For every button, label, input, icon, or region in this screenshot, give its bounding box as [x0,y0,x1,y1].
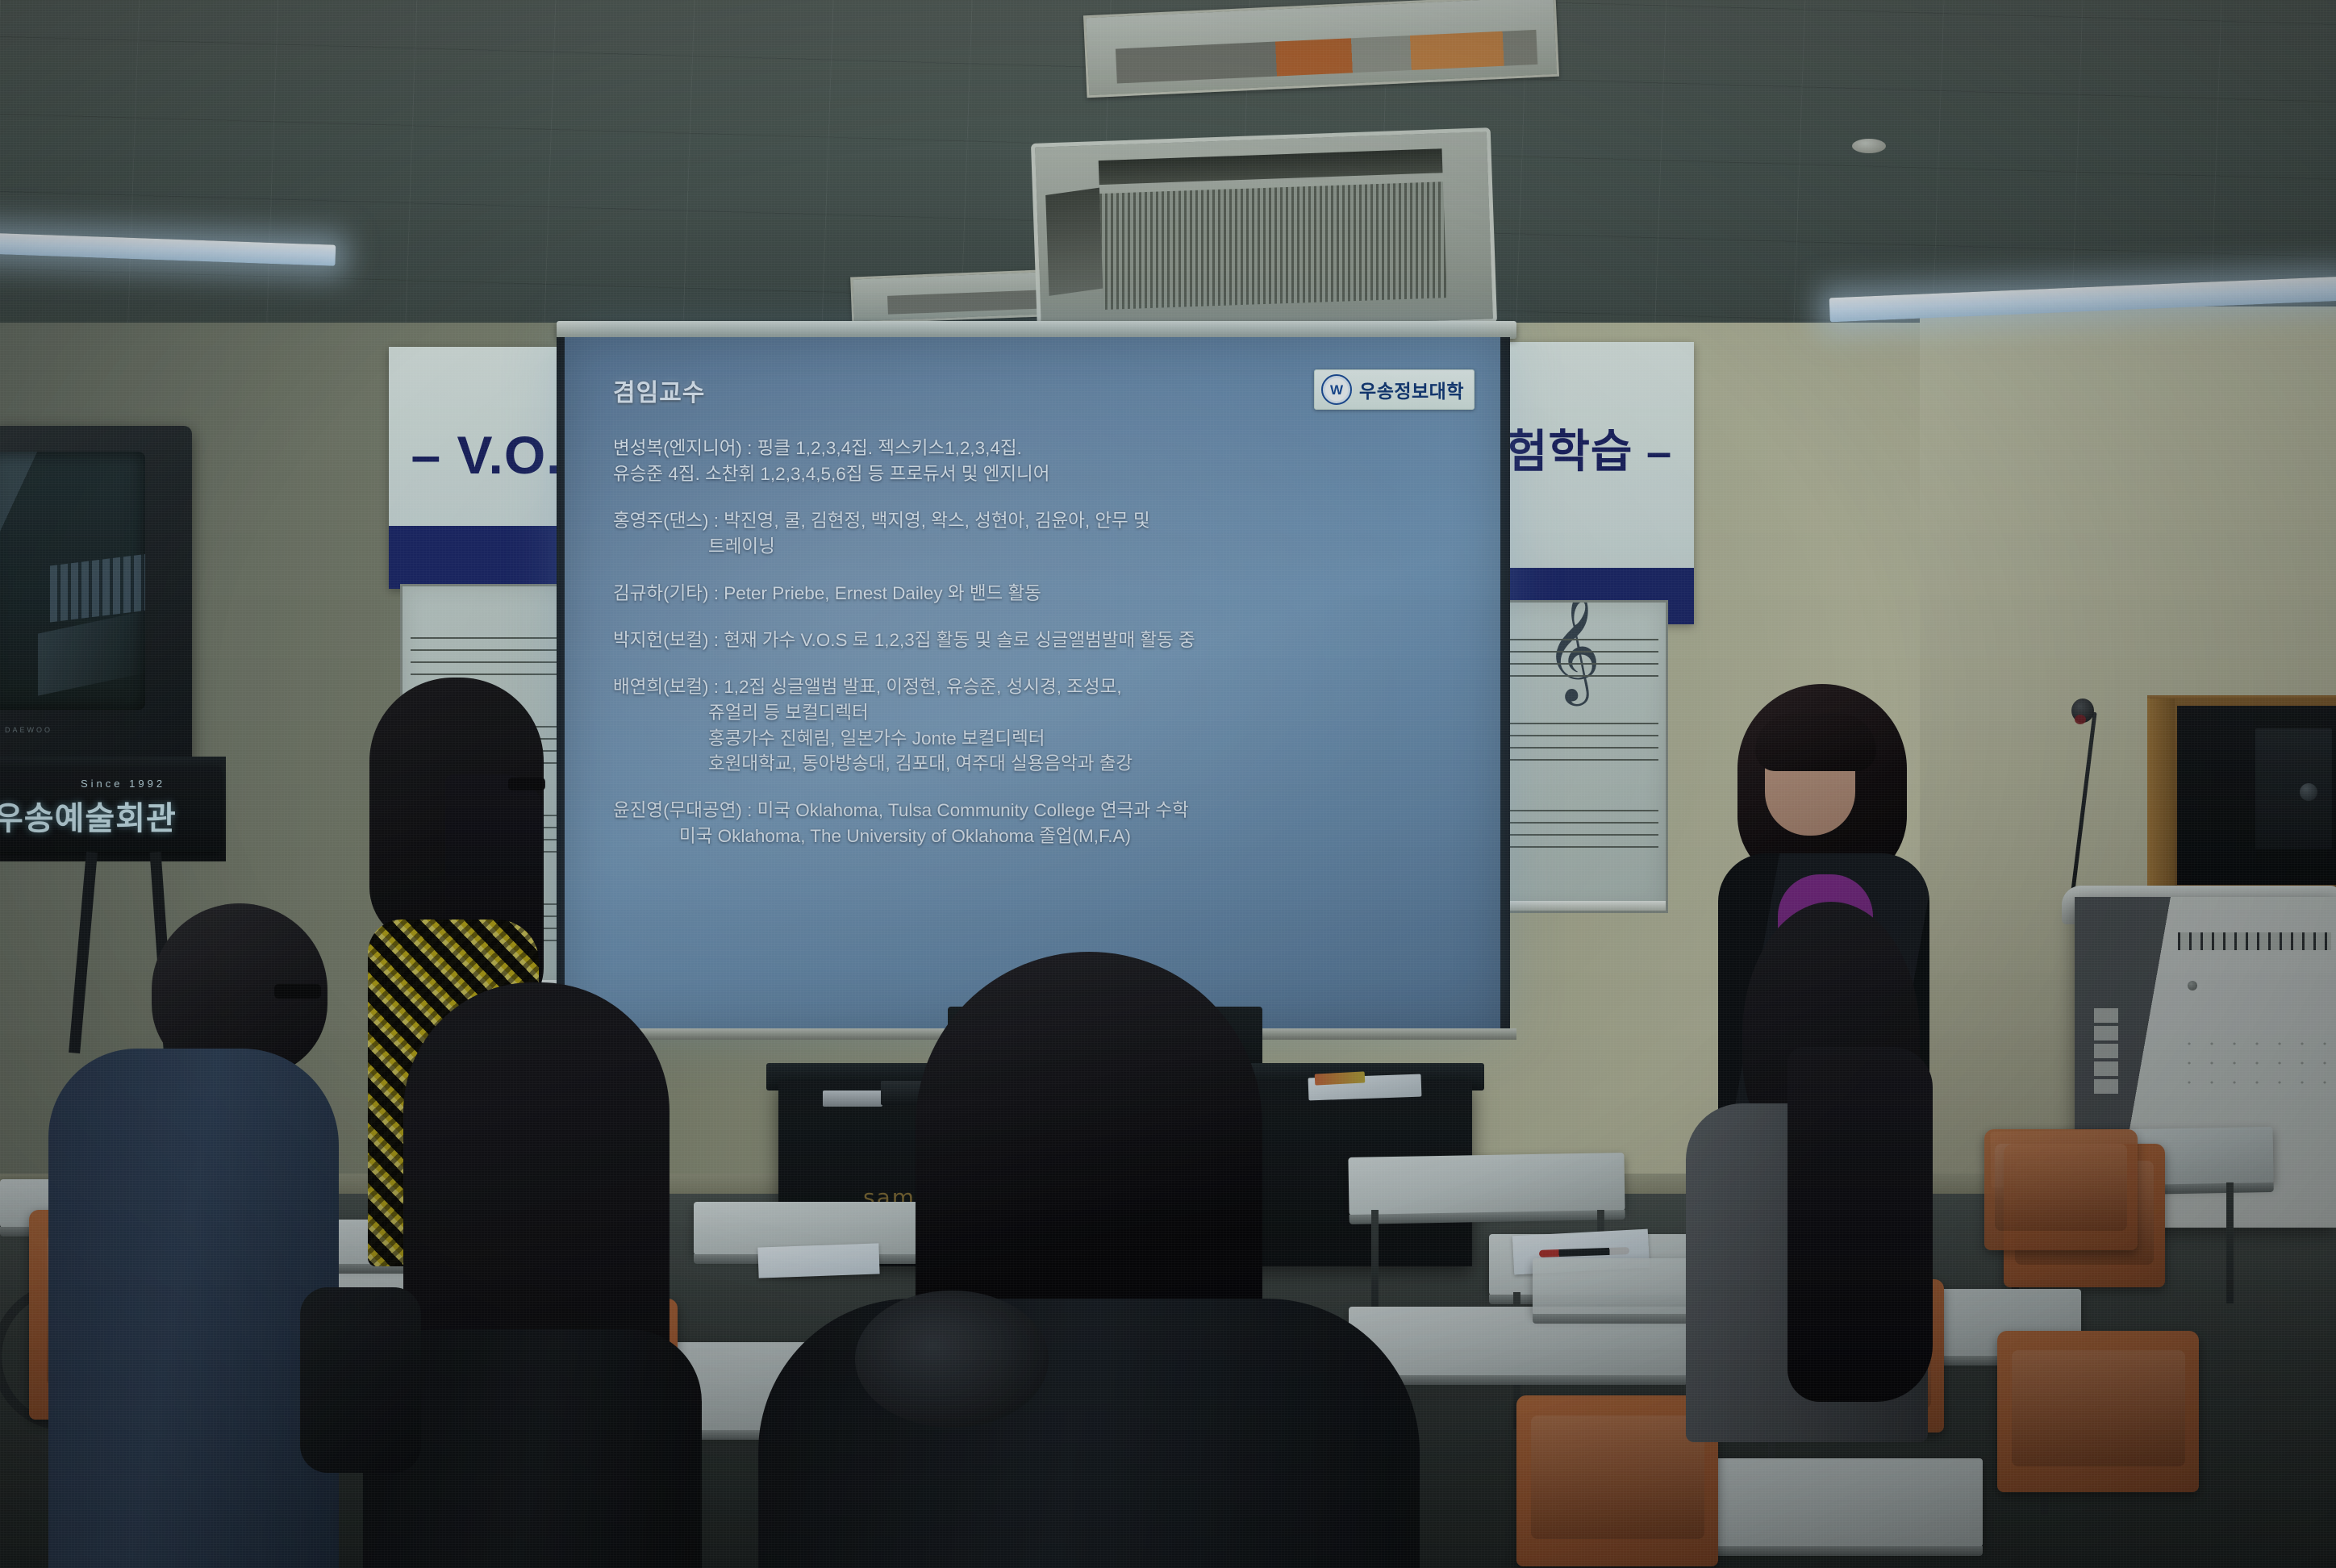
stereo-component [2255,728,2332,849]
tv-reflection-2 [38,611,145,696]
banner-left: – V.O. [389,347,584,589]
sign-since-text: Since 1992 [81,778,165,790]
smoke-detector-icon [1852,139,1886,153]
slide-entry: 배연희(보컬) : 1,2집 싱글앨범 발표, 이정현, 유승준, 성시경, 조… [613,674,1468,778]
chair[interactable] [1984,1129,2138,1250]
university-logo: W 우송정보대학 [1314,369,1475,410]
lectern-control-labels [2094,1008,2118,1097]
glasses-icon [508,778,545,790]
classroom-photo: – V.O. 험학습 – 𝄞 겸임교수 W 우송정보대학 [0,0,2336,1568]
lectern-screw [2188,981,2197,990]
staff-lines [1497,712,1659,762]
slide-body: 변성복(엔지니어) : 핑클 1,2,3,4집. 젝스키스1,2,3,4집. 유… [613,436,1468,849]
screen-housing [557,321,1516,339]
person-seated-grey [1637,902,1928,1386]
slide-line: 배연희(보컬) : 1,2집 싱글앨범 발표, 이정현, 유승준, 성시경, 조… [613,674,1468,700]
banner-left-stripe [389,526,584,589]
cabinet-interior [2177,706,2336,885]
slide-line: 호원대학교, 동아방송대, 김포대, 여주대 실용음악과 출강 [613,751,1468,777]
desk-leg [2226,1182,2234,1303]
padded-coat [758,1299,1420,1568]
banner-left-text: – V.O. [389,424,584,486]
university-logo-text: 우송정보대학 [1359,376,1464,403]
presentation-slide: 겸임교수 W 우송정보대학 변성복(엔지니어) : 핑클 1,2,3,4집. 젝… [565,337,1500,1031]
slide-line: 유승준 4집. 소찬휘 1,2,3,4,5,6집 등 프로듀서 및 엔지니어 [613,461,1468,487]
av-equipment-cabinet [2147,695,2336,911]
cabinet-door[interactable] [2147,699,2175,899]
microphone-windscreen [2075,715,2086,724]
staff-lines [1497,799,1659,849]
slide-line: 홍콩가수 진혜림, 일본가수 Jonte 보컬디렉터 [613,726,1468,752]
chair[interactable] [1997,1331,2199,1492]
slide-entry: 홍영주(댄스) : 박진영, 쿨, 김현정, 백지영, 왁스, 성현아, 김윤아… [613,508,1468,560]
slide-line: 트레이닝 [613,534,1468,560]
slide-line: 미국 Oklahoma, The University of Oklahoma … [613,824,1468,849]
slide-entry: 변성복(엔지니어) : 핑클 1,2,3,4집. 젝스키스1,2,3,4집. 유… [613,436,1468,487]
ceiling-ac-unit [1031,127,1497,339]
slide-entry: 김규하(기타) : Peter Priebe, Ernest Dailey 와 … [613,581,1468,607]
ac-return-slot [1099,148,1442,185]
lectern-speaker-grille [2178,1034,2336,1091]
slide-line: 홍영주(댄스) : 박진영, 쿨, 김현정, 백지영, 왁스, 성현아, 김윤아… [613,508,1468,534]
projection-screen: 겸임교수 W 우송정보대학 변성복(엔지니어) : 핑클 1,2,3,4집. 젝… [565,337,1500,1031]
glasses-icon [274,984,321,999]
fixture-interior [1116,30,1537,83]
woosong-emblem-icon: W [1321,374,1352,405]
slide-line: 윤진영(무대공연) : 미국 Oklahoma, Tulsa Community… [613,798,1468,824]
hair-fringe [1755,713,1876,771]
person-seated-long-hair [355,982,694,1568]
tv-screen [0,452,145,710]
blue-shirt [48,1049,339,1568]
tv-reflection [50,554,145,623]
hair-long [1787,1047,1933,1402]
person-seated-front-center [758,952,1420,1568]
music-whiteboard-right: 𝄞 [1487,600,1668,913]
banner-right-text: 험학습 – [1484,415,1694,481]
banner-right: 험학습 – [1484,342,1694,624]
sign-name-text: 우송예술회관 [0,792,177,839]
arts-hall-sign: Since 1992 우송예술회관 [0,766,221,852]
slide-line: 박지헌(보컬) : 현재 가수 V.O.S 로 1,2,3집 활동 및 솔로 싱… [613,628,1468,653]
ac-grille [1100,182,1447,311]
fur-collar [855,1291,1049,1428]
slide-entry: 윤진영(무대공연) : 미국 Oklahoma, Tulsa Community… [613,798,1468,849]
slide-line: 쥬얼리 등 보컬디렉터 [613,700,1468,726]
slide-entry: 박지헌(보컬) : 현재 가수 V.O.S 로 1,2,3집 활동 및 솔로 싱… [613,628,1468,653]
staff-lines [1497,628,1659,678]
bag [300,1287,421,1473]
stereo-knob[interactable] [2300,783,2317,801]
ac-vane [1045,187,1103,296]
slide-line: 변성복(엔지니어) : 핑클 1,2,3,4집. 젝스키스1,2,3,4집. [613,436,1468,461]
slide-line: 김규하(기타) : Peter Priebe, Ernest Dailey 와 … [613,581,1468,607]
person-seated-blue-shirt [32,903,339,1568]
screen-frame-right [1499,337,1510,1039]
lectern-vent [2178,932,2331,950]
